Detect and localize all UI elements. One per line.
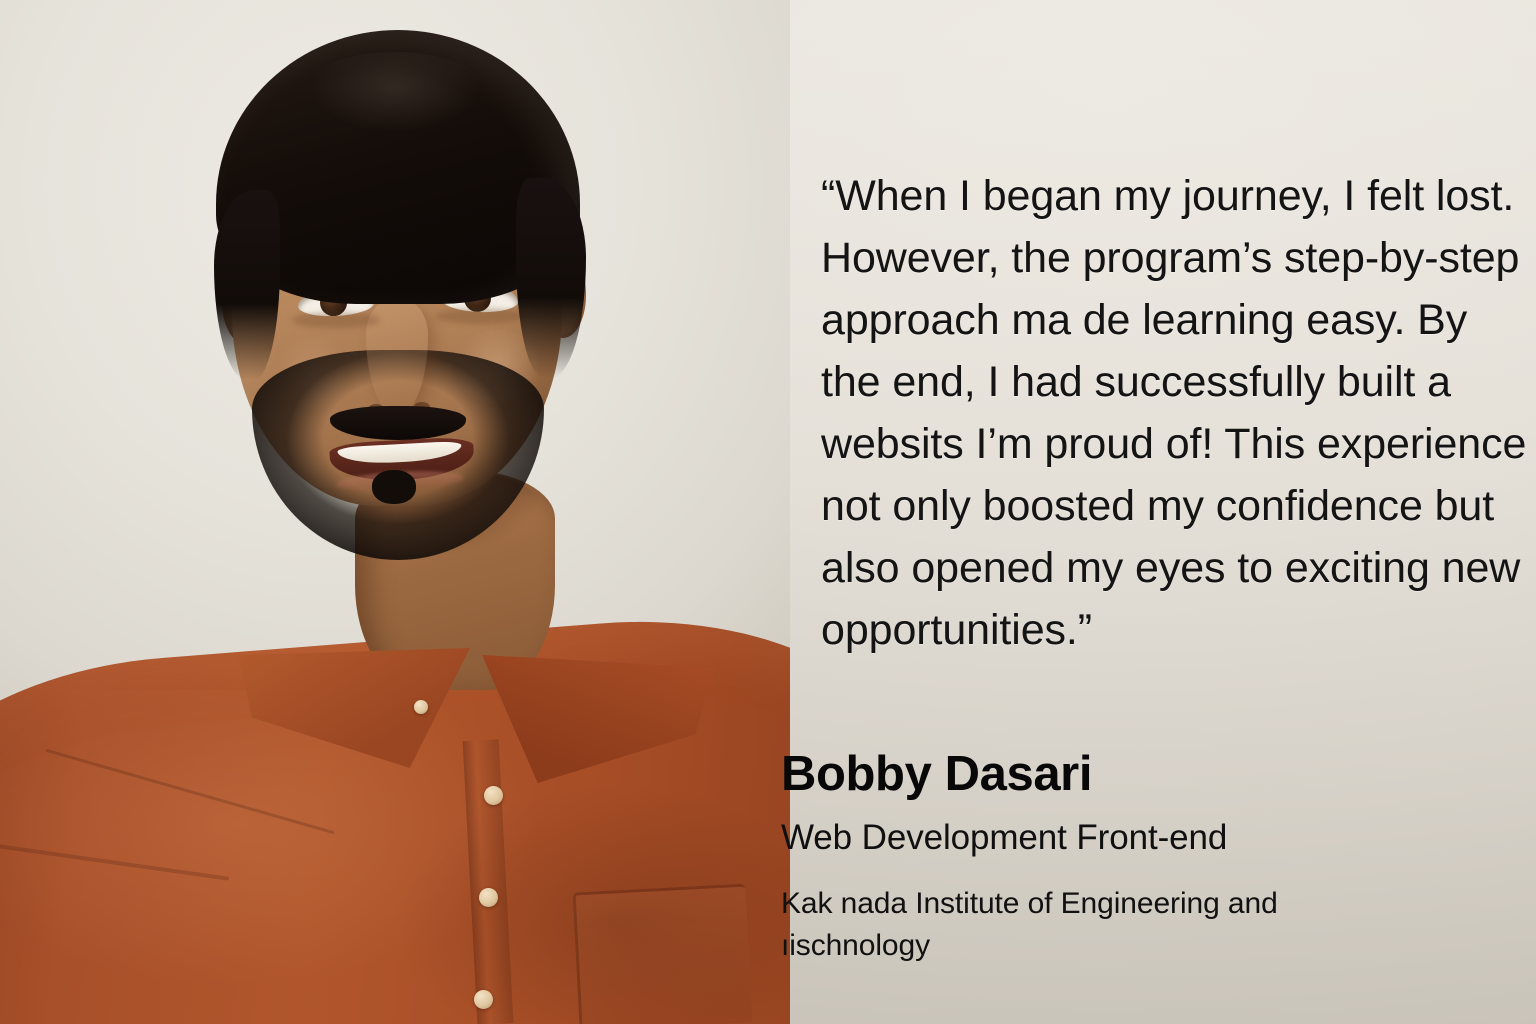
shirt-button [474, 990, 493, 1009]
student-name: Bobby Dasari [781, 745, 1497, 803]
attribution-block: Bobby Dasari Web Development Front-end K… [781, 745, 1497, 967]
testimonial-card: “When I began my journey, I felt lost. H… [0, 0, 1536, 1024]
shirt-collar-button [414, 700, 428, 714]
shirt-chest-pocket [572, 884, 752, 1024]
testimonial-quote: “When I began my journey, I felt lost. H… [821, 165, 1536, 661]
student-role: Web Development Front-end [781, 813, 1497, 863]
hair-highlight [300, 52, 490, 138]
shirt-button [479, 888, 498, 907]
under-eye-shadow-right [436, 308, 524, 324]
testimonial-text-column: “When I began my journey, I felt lost. H… [779, 0, 1519, 1024]
teeth [337, 441, 462, 465]
soul-patch [372, 470, 416, 504]
portrait-photo [0, 0, 790, 1024]
shirt-button [484, 786, 503, 805]
student-organization: Kak nada Institute of Engineering and ıi… [781, 883, 1381, 967]
under-eye-shadow-left [292, 312, 380, 328]
